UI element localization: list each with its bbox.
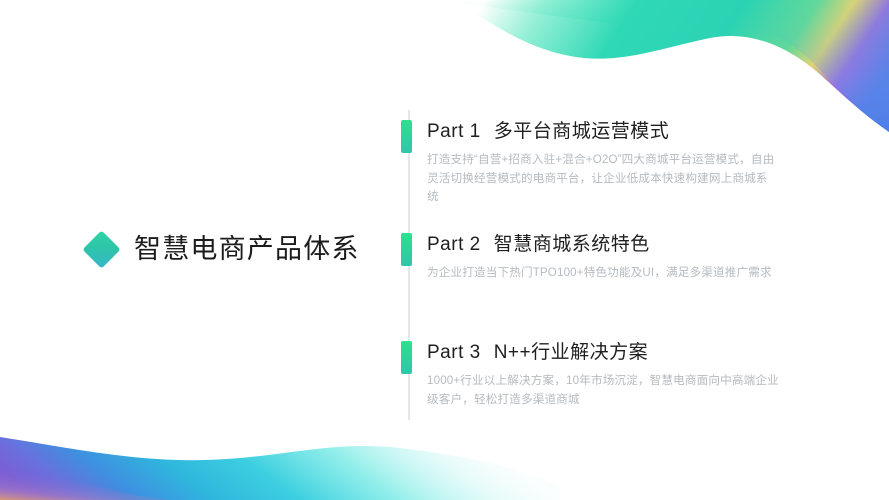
part-marker-icon [401,233,412,266]
part-heading: Part 3N++行业解决方案 [427,341,801,365]
part-marker-icon [401,341,412,374]
part-label: Part 3 [427,342,481,363]
diamond-icon [82,230,120,268]
part-body: Part 2智慧商城系统特色 为企业打造当下热门TPO100+特色功能及UI，满… [427,233,801,283]
part-description: 打造支持“自营+招商入驻+混合+O2O”四大商城平台运营模式，自由灵活切换经营模… [427,151,779,207]
part-title: N++行业解决方案 [494,342,648,363]
part-title: 智慧商城系统特色 [494,234,650,255]
part-description: 为企业打造当下热门TPO100+特色功能及UI，满足多渠道推广需求 [427,264,779,283]
page-title: 智慧电商产品体系 [88,234,360,264]
part-item[interactable]: Part 1多平台商城运营模式 打造支持“自营+招商入驻+混合+O2O”四大商城… [401,120,801,207]
top-wave-haze [420,0,889,40]
part-title: 多平台商城运营模式 [494,121,670,142]
bottom-wave-secondary [0,470,170,500]
part-heading: Part 1多平台商城运营模式 [427,120,801,144]
part-item[interactable]: Part 2智慧商城系统特色 为企业打造当下热门TPO100+特色功能及UI，满… [401,233,801,283]
part-label: Part 2 [427,234,481,255]
slide-canvas: 智慧电商产品体系 Part 1多平台商城运营模式 打造支持“自营+招商入驻+混合… [0,0,889,500]
part-label: Part 1 [427,121,481,142]
part-heading: Part 2智慧商城系统特色 [427,233,801,257]
part-item[interactable]: Part 3N++行业解决方案 1000+行业以上解决方案，10年市场沉淀，智慧… [401,341,801,409]
page-title-text: 智慧电商产品体系 [134,234,360,264]
bottom-wave-primary [0,437,560,500]
part-marker-icon [401,120,412,153]
part-body: Part 3N++行业解决方案 1000+行业以上解决方案，10年市场沉淀，智慧… [427,341,801,409]
part-body: Part 1多平台商城运营模式 打造支持“自营+招商入驻+混合+O2O”四大商城… [427,120,801,207]
parts-column: Part 1多平台商城运营模式 打造支持“自营+招商入驻+混合+O2O”四大商城… [401,110,801,420]
part-description: 1000+行业以上解决方案，10年市场沉淀，智慧电商面向中高端企业级客户，轻松打… [427,372,779,410]
